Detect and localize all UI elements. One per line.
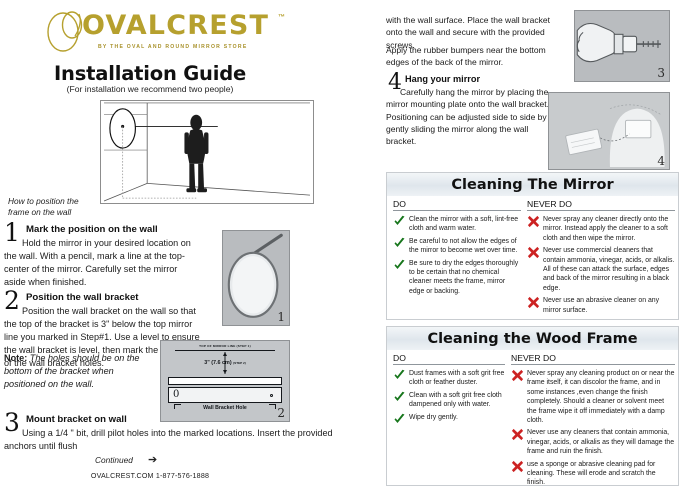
photo-4-number: 4 [657,154,665,168]
panel-frame-never-title: NEVER DO [511,353,675,364]
photo-hang-mirror: 4 [548,92,670,170]
panel-mirror-title: Cleaning The Mirror [387,173,678,197]
panel-mirror-never-rule [527,210,675,211]
panel-frame-do-rule [393,364,505,365]
list-item-text: Dust frames with a soft grit free cloth … [409,370,504,386]
list-item-text: Never use commercial cleaners that conta… [543,247,674,292]
check-icon [393,391,406,404]
panel-frame-do-title: DO [393,353,505,364]
check-icon [393,237,406,250]
list-item-text: Be careful to not allow the edges of the… [409,238,517,254]
bracket-dimension: 3" (7.6 cm) (STEP 2) [204,360,246,366]
list-item-text: Wipe dry gently. [409,414,458,421]
check-icon [393,215,406,228]
bracket-body [168,387,282,403]
panel-cleaning-mirror: Cleaning The Mirror DO Clean the mirror … [386,172,679,320]
step-2-heading: Position the wall bracket [26,292,139,303]
installation-guide-page: OVALCREST ™ BY THE OVAL AND ROUND MIRROR… [0,0,679,489]
brand-tagline: BY THE OVAL AND ROUND MIRROR STORE [98,44,247,50]
list-item: use a sponge or abrasive cleaning pad fo… [511,460,675,488]
continued-arrow-icon: ➔ [148,455,157,466]
panel-mirror-do-rule [393,210,521,211]
left-column: OVALCREST ™ BY THE OVAL AND ROUND MIRROR… [0,0,376,489]
list-item: Never use commercial cleaners that conta… [527,246,675,293]
list-item-text: Never use an abrasive cleaner on any mir… [543,297,659,313]
photo-1-number: 1 [277,310,285,324]
check-icon [393,369,406,382]
room-position-diagram [100,100,314,204]
list-item-text: Never use any cleaners that contain ammo… [527,429,674,455]
list-item: Clean with a soft grit free cloth dampen… [393,391,505,410]
continued-label: Continued [95,455,133,465]
list-item: Be careful to not allow the edges of the… [393,237,521,256]
photo-2-number: 2 [277,406,285,420]
hang-photo-svg [549,93,669,169]
step-4-heading: Hang your mirror [405,74,480,84]
bracket-dimension-step: (STEP 2) [233,361,246,365]
right-paragraph-2: Apply the rubber bumpers near the bottom… [386,44,566,69]
bracket-tick-left [174,404,181,409]
panel-mirror-never-title: NEVER DO [527,199,675,210]
panel-mirror-columns: DO Clean the mirror with a soft, lint-fr… [387,197,678,319]
bracket-hole-left: 0 [173,390,179,400]
brand-name: OVALCREST [82,12,269,39]
list-item: Be sure to dry the edges thoroughly to b… [393,259,521,297]
bracket-dimension-value: 3" (7.6 cm) [204,360,231,366]
list-item-text: Never spray any cleaner directly onto th… [543,216,668,242]
list-item: Clean the mirror with a soft, lint-free … [393,215,521,234]
cross-icon [511,428,524,441]
brand-logo: OVALCREST ™ BY THE OVAL AND ROUND MIRROR… [46,8,304,58]
check-icon [393,259,406,272]
list-item: Never spray any cleaning product on or n… [511,369,675,425]
step-1-body: Hold the mirror in your desired location… [4,237,200,289]
panel-frame-never-column: NEVER DO Never spray any cleaning produc… [511,353,675,489]
list-item: Never spray any cleaner directly onto th… [527,215,675,243]
right-column: with the wall surface. Place the wall br… [386,0,679,489]
page-title: Installation Guide [0,62,300,85]
panel-frame-title: Cleaning the Wood Frame [387,327,678,351]
photo-drill: 3 [574,10,670,82]
room-diagram-svg [101,101,313,203]
drill-photo-svg [575,11,669,81]
panel-frame-never-rule [511,364,675,365]
footer-left: OVALCREST.COM 1-877-576-1888 [0,472,300,480]
step-1-heading: Mark the position on the wall [26,224,158,235]
step-4-body: Carefully hang the mirror by placing the… [386,86,558,148]
step-3-heading: Mount bracket on wall [26,414,127,425]
list-item-text: Be sure to dry the edges thoroughly to b… [409,260,518,295]
trademark-symbol: ™ [278,14,285,21]
panel-mirror-do-column: DO Clean the mirror with a soft, lint-fr… [393,199,521,299]
list-item: Dust frames with a soft grit free cloth … [393,369,505,388]
list-item: Never use an abrasive cleaner on any mir… [527,296,675,315]
photo-bracket-diagram: TOP OF MIRROR LINE (STEP 1) 3" (7.6 cm) … [160,340,290,422]
panel-mirror-never-column: NEVER DO Never spray any cleaner directl… [527,199,675,318]
bracket-hole-label: Wall Bracket Hole [203,405,247,411]
bracket-arrow-down-icon [223,370,227,374]
bracket-top-line [175,350,275,351]
photo-mirror-mark: 1 [222,230,290,326]
list-item-text: Clean with a soft grit free cloth dampen… [409,392,502,408]
cross-icon [511,460,524,473]
cross-icon [527,296,540,309]
page-subtitle: (For installation we recommend two peopl… [0,84,300,94]
list-item: Wipe dry gently. [393,413,505,422]
panel-frame-do-column: DO Dust frames with a soft grit free clo… [393,353,505,425]
bracket-upper-plate [168,377,282,385]
step-2-note-label: Note: [4,353,27,363]
panel-mirror-do-title: DO [393,199,521,210]
photo-3-number: 3 [657,66,665,80]
list-item-text: Never spray any cleaning product on or n… [527,370,674,424]
bracket-hole-right-icon [270,394,274,398]
panel-frame-columns: DO Dust frames with a soft grit free clo… [387,351,678,485]
bracket-tick-right [269,404,276,409]
list-item: Never use any cleaners that contain ammo… [511,428,675,456]
list-item-text: use a sponge or abrasive cleaning pad fo… [527,461,656,487]
list-item-text: Clean the mirror with a soft, lint-free … [409,216,518,232]
step-2-note: Note: The holes should be on the bottom … [4,352,156,391]
bracket-top-label: TOP OF MIRROR LINE (STEP 1) [199,344,251,348]
bracket-arrow-up-icon [223,352,227,356]
diagram-caption: How to position the frame on the wall [8,196,98,218]
check-icon [393,413,406,426]
cross-icon [527,246,540,259]
panel-cleaning-wood-frame: Cleaning the Wood Frame DO Dust frames w… [386,326,679,486]
step-3-body: Using a 1/4 " bit, drill pilot holes int… [4,427,356,453]
cross-icon [527,215,540,228]
cross-icon [511,369,524,382]
